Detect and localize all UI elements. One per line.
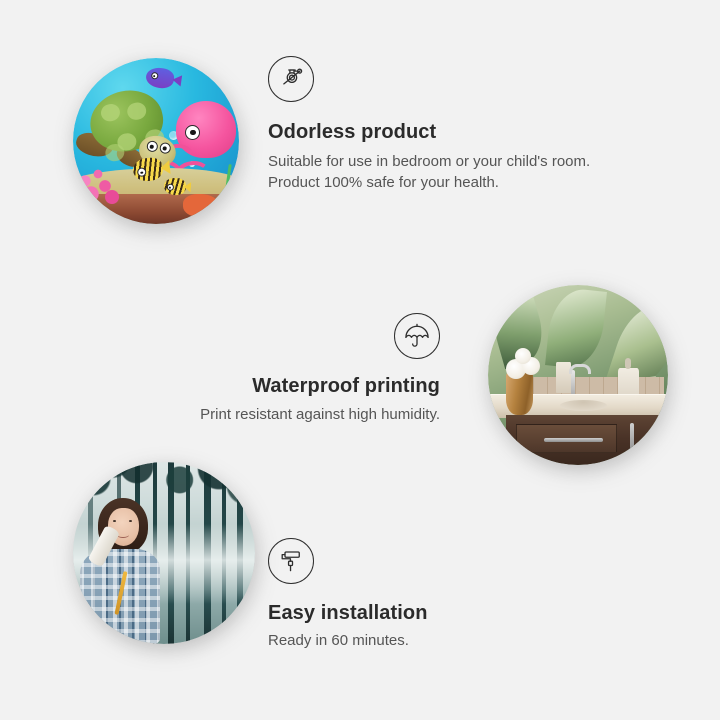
feature-installation: Easy installation Ready in 60 minutes. [268, 538, 568, 651]
feature-waterproof: Waterproof printing Print resistant agai… [150, 313, 440, 425]
feature-title: Easy installation [268, 601, 568, 625]
starfish-icon [183, 194, 220, 217]
feature-description: Ready in 60 minutes. [268, 630, 568, 651]
paint-roller-icon [268, 538, 314, 584]
tall-bottle [556, 362, 570, 393]
feature-description: Suitable for use in bedroom or your chil… [268, 151, 608, 194]
feature-odorless: Odorless product Suitable for use in bed… [268, 56, 608, 194]
feature-title: Waterproof printing [150, 374, 440, 398]
coral-icon [76, 154, 126, 204]
yellow-striped-fish-icon [164, 177, 187, 195]
bathroom-tropical-wallpaper-photo [488, 285, 668, 465]
feature-description: Print resistant against high humidity. [150, 404, 440, 425]
no-odor-perfume-bottle-icon [268, 56, 314, 102]
wood-vanity-cabinet [506, 415, 668, 465]
umbrella-icon [394, 313, 440, 359]
feature-infographic: Odorless product Suitable for use in bed… [0, 0, 720, 720]
cabinet-handle [630, 423, 634, 454]
drawer-handle [544, 438, 603, 442]
underwater-cartoon-mural-photo [73, 58, 239, 224]
sink-basin [560, 400, 607, 411]
feature-title: Odorless product [268, 120, 608, 144]
forest-mural-installer-photo [73, 462, 255, 644]
